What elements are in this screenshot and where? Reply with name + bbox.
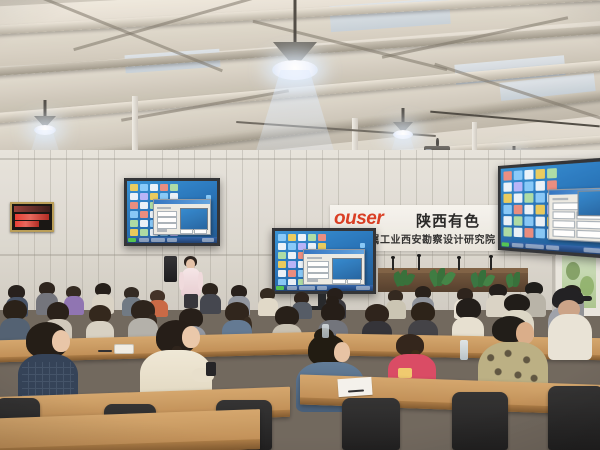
microphone-2 [418, 256, 420, 270]
right-screen[interactable] [498, 157, 600, 258]
banner-brand-text: ouser [334, 208, 383, 230]
left-screen[interactable] [124, 178, 220, 246]
water-bottle-2[interactable] [322, 324, 329, 338]
pendant-lamp-2 [25, 100, 65, 150]
paper-sheet[interactable] [337, 377, 372, 397]
phone-in-hand[interactable] [206, 362, 216, 376]
person-plaid-navy [18, 322, 78, 402]
microphone-4 [490, 257, 492, 270]
chair-front-4[interactable] [342, 398, 400, 450]
microphone-1 [392, 258, 394, 270]
pen-on-desk-1[interactable] [98, 350, 112, 352]
conference-hall-photo: ouser 陕西有色 有色金属工业西安勘察设计研究院 [0, 0, 600, 450]
speaker-cabinet [164, 256, 177, 282]
chair-front-6[interactable] [548, 386, 600, 450]
banner-company-cn: 陕西有色 [416, 210, 480, 231]
center-screen[interactable] [272, 228, 376, 294]
led-marquee-sign [10, 202, 54, 232]
pendant-lamp-main [255, 0, 335, 100]
chair-front-5[interactable] [452, 392, 508, 450]
person-black-cap [548, 288, 592, 358]
microphone-3 [458, 258, 460, 270]
water-bottle-1[interactable] [460, 340, 468, 360]
phone-on-desk[interactable] [114, 344, 134, 354]
